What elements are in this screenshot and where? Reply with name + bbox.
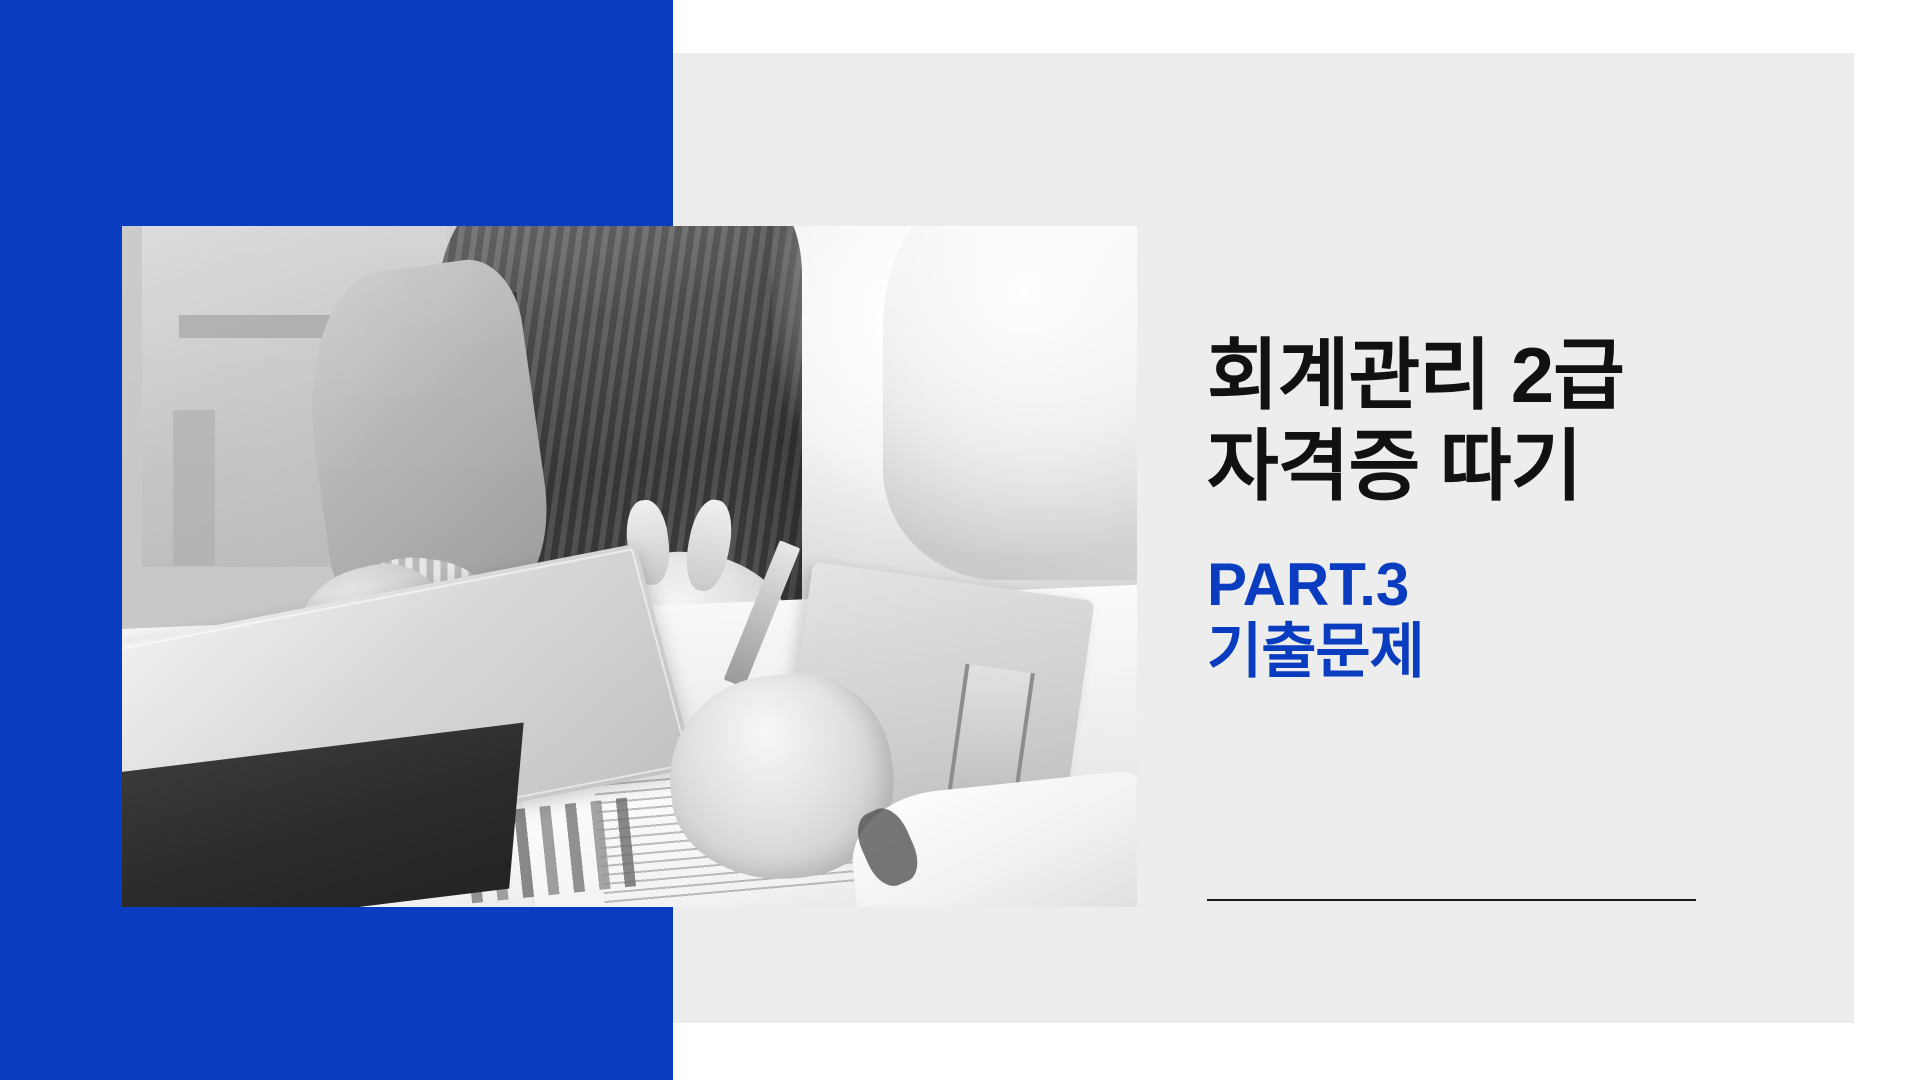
hero-photo xyxy=(122,226,1137,907)
divider-rule xyxy=(1207,899,1696,901)
text-block: 회계관리 2급 자격증 따기 PART.3 기출문제 xyxy=(1207,330,1827,685)
page-title-line-1: 회계관리 2급 xyxy=(1207,330,1827,421)
part-block: PART.3 기출문제 xyxy=(1207,551,1827,685)
page-title-line-2: 자격증 따기 xyxy=(1207,421,1827,512)
part-number-label: PART.3 xyxy=(1207,551,1827,618)
part-subtitle-label: 기출문제 xyxy=(1207,618,1827,685)
photo-tone-overlay xyxy=(122,226,1137,907)
slide-canvas: 회계관리 2급 자격증 따기 PART.3 기출문제 xyxy=(0,0,1920,1080)
photo-illustration xyxy=(122,226,1137,907)
